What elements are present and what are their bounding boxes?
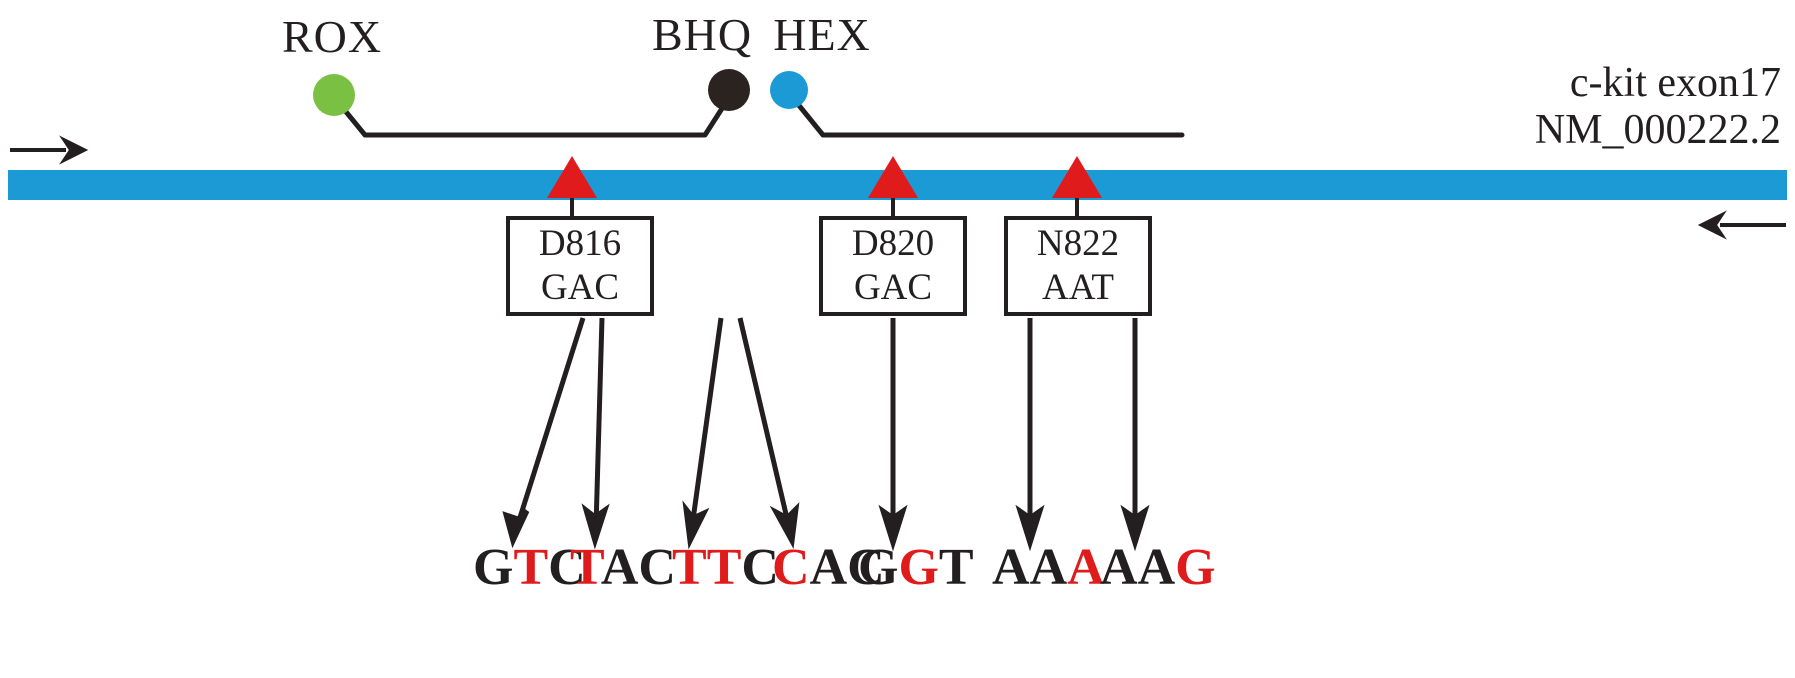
variant-codon-5: GGT: [858, 538, 974, 597]
codon-box-d820[interactable]: D820 GAC: [819, 216, 967, 316]
codon-base: T: [672, 539, 707, 596]
variant-codon-7: AAG: [1100, 538, 1216, 597]
codon-box-residue: N822: [1037, 222, 1119, 266]
variant-codon-2: TAC: [570, 538, 676, 597]
n822-variant-arrows: [1020, 318, 1145, 543]
codon-base: A: [992, 539, 1030, 596]
codon-base: T: [570, 539, 601, 596]
d820-variant-arrows: [883, 318, 903, 543]
rox-bhq-probe-line: [338, 96, 730, 135]
bhq-label: BHQ: [652, 8, 752, 61]
codon-box-residue: D816: [539, 222, 621, 266]
reverse-primer-arrow: [1700, 213, 1786, 237]
codon-base: C: [772, 539, 810, 596]
hex-label: HEX: [773, 8, 871, 61]
hex-fluorophore-dot: [770, 71, 808, 109]
codon-base: T: [513, 539, 548, 596]
codon-box-codon: AAT: [1042, 266, 1114, 310]
gene-accession-line2: NM_000222.2: [1535, 107, 1781, 154]
box-connectors: [572, 198, 1077, 216]
codon-base: G: [473, 539, 513, 596]
codon-base: G: [858, 539, 898, 596]
rox-fluorophore-dot: [313, 74, 355, 116]
gene-name-block: c-kit exon17 NM_000222.2: [1535, 60, 1781, 154]
variant-codon-6: AAA: [992, 538, 1105, 597]
variant-codon-1: GTC: [473, 538, 586, 597]
codon-base: G: [1175, 539, 1215, 596]
codon-base: G: [898, 539, 938, 596]
codon-base: A: [810, 539, 848, 596]
gene-name-line1: c-kit exon17: [1535, 60, 1781, 107]
codon-box-d816[interactable]: D816 GAC: [506, 216, 654, 316]
bhq-quencher-dot: [708, 69, 750, 111]
d816-variant-arrows: [506, 318, 796, 541]
diagram-canvas: ROX BHQ HEX c-kit exon17 NM_000222.2 D81…: [0, 0, 1795, 678]
codon-box-residue: D820: [852, 222, 934, 266]
forward-primer-arrow: [10, 138, 86, 162]
codon-base: A: [1138, 539, 1176, 596]
rox-label: ROX: [282, 10, 382, 63]
codon-box-codon: GAC: [854, 266, 932, 310]
codon-box-codon: GAC: [541, 266, 619, 310]
hex-probe-line: [793, 98, 1182, 135]
codon-box-n822[interactable]: N822 AAT: [1004, 216, 1152, 316]
codon-base: C: [638, 539, 676, 596]
variant-codon-3: TTC: [672, 538, 779, 597]
codon-base: T: [707, 539, 742, 596]
codon-base: A: [1100, 539, 1138, 596]
codon-base: A: [601, 539, 639, 596]
codon-base: T: [939, 539, 974, 596]
codon-base: A: [1030, 539, 1068, 596]
